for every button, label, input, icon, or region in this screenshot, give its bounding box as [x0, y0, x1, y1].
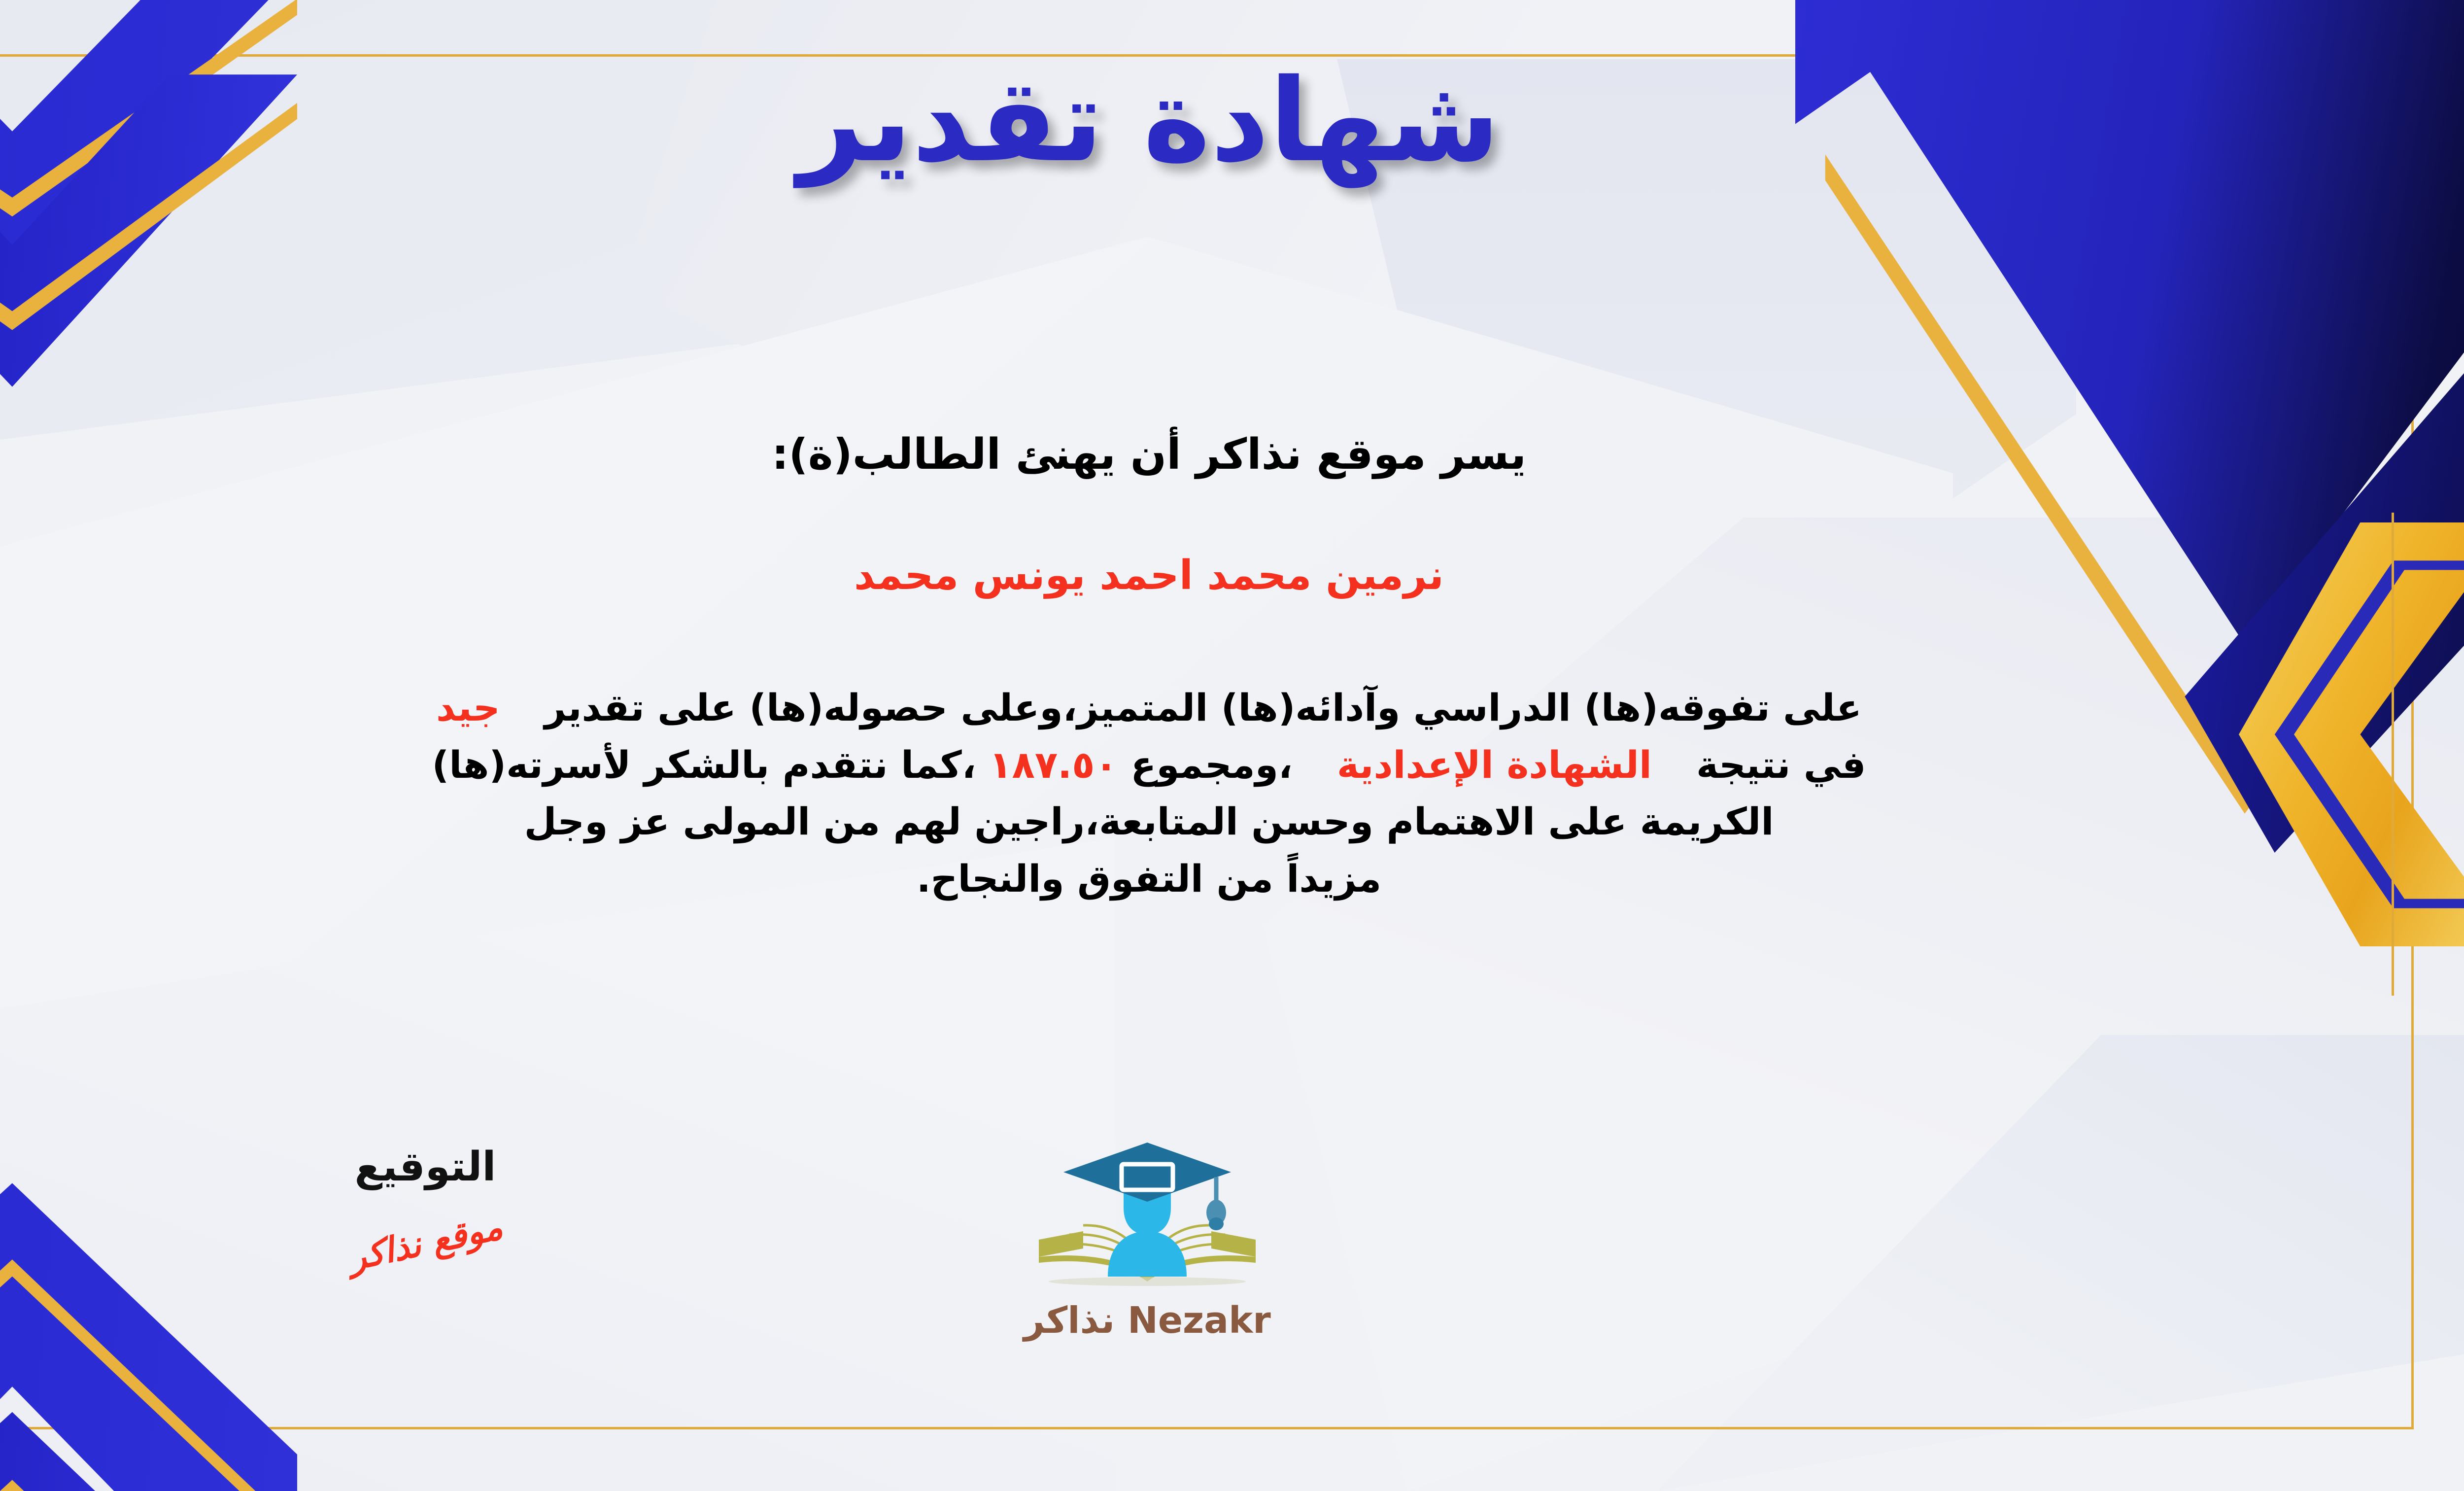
exam-name: الشهادة الإعدادية	[1337, 743, 1652, 787]
body-line-4: مزيداً من التفوق والنجاح.	[0, 850, 2390, 907]
brand-logo: Nezakr نذاكر	[953, 1134, 1342, 1342]
signature-label: التوقيع	[179, 1144, 672, 1190]
body-line-2-suffix: ،كما نتقدم بالشكر لأسرته(ها)	[432, 743, 976, 787]
total-score: ١٨٧.٥٠	[989, 743, 1118, 787]
body-line-2-prefix: في نتيجة	[1696, 743, 1866, 787]
certificate-content: شهادة تقدير يسر موقع نذاكر أن يهنئ الطال…	[0, 0, 2464, 1491]
logo-wordmark: Nezakr نذاكر	[953, 1299, 1342, 1342]
signature-mark: موقع نذاكر	[345, 1206, 506, 1279]
body-line-2: في نتيجةالشهادة الإعدادية،ومجموع ١٨٧.٥٠ …	[0, 736, 2390, 794]
greeting-text: يسر موقع نذاكر أن يهنئ الطالب(ة):	[0, 430, 2464, 479]
body-line-1: على تفوقه(ها) الدراسي وآدائه(ها) المتميز…	[0, 679, 2390, 736]
certificate-page: شهادة تقدير يسر موقع نذاكر أن يهنئ الطال…	[0, 0, 2464, 1491]
certificate-body: على تفوقه(ها) الدراسي وآدائه(ها) المتميز…	[0, 679, 2390, 907]
body-line-3: الكريمة على الاهتمام وحسن المتابعة،راجين…	[0, 793, 2390, 850]
body-line-1-text: على تفوقه(ها) الدراسي وآدائه(ها) المتميز…	[545, 686, 1862, 729]
logo-artwork	[1009, 1134, 1285, 1296]
body-line-2-mid: ،ومجموع	[1130, 743, 1292, 787]
student-name: نرمين محمد احمد يونس محمد	[0, 552, 2464, 599]
signature-block: التوقيع موقع نذاكر	[179, 1144, 672, 1263]
grade-value: جيد	[436, 686, 500, 729]
certificate-title: شهادة تقدير	[0, 49, 2464, 192]
